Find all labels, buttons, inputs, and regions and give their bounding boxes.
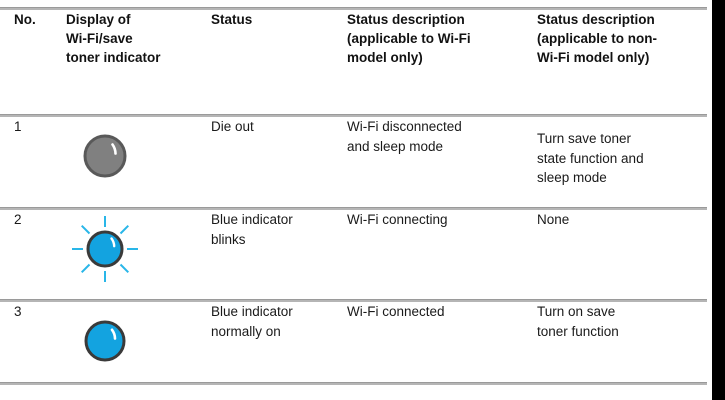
row1-number: 1	[14, 117, 22, 137]
row3-status: Blue indicator normally on	[211, 302, 293, 341]
table-rule-bottom	[0, 382, 707, 385]
row1-cell-desc-nonwifi: Turn save toner state function and sleep…	[537, 117, 707, 188]
row2-cell-desc-wifi: Wi-Fi connecting	[347, 210, 532, 230]
row1-desc-nonwifi-line3: sleep mode	[537, 170, 607, 185]
row2-number: 2	[14, 210, 22, 230]
row3-number: 3	[14, 302, 22, 322]
header-cell-status: Status	[211, 10, 341, 29]
row1-desc-nonwifi-line2: state function and	[537, 151, 644, 166]
row1-cell-no: 1	[14, 117, 66, 137]
header-label-no: No.	[14, 10, 36, 29]
row3-desc-nonwifi: Turn on save toner function	[537, 302, 619, 341]
row2-cell-status: Blue indicator blinks	[211, 210, 341, 249]
row2-status: Blue indicator blinks	[211, 210, 293, 249]
row3-desc-nonwifi-line1: Turn on save	[537, 304, 615, 319]
blue-led-blinking-icon	[66, 210, 144, 288]
header-desc-nonwifi-line3: Wi-Fi model only)	[537, 50, 649, 65]
grey-led-off-icon	[66, 117, 144, 195]
header-cell-display: Display of Wi-Fi/save toner indicator	[66, 10, 206, 67]
header-cell-desc-nonwifi: Status description (applicable to non- W…	[537, 10, 707, 67]
header-label-display: Display of Wi-Fi/save toner indicator	[66, 10, 161, 67]
row2-status-line1: Blue indicator	[211, 212, 293, 227]
row3-desc-nonwifi-line2: toner function	[537, 324, 619, 339]
row2-status-line2: blinks	[211, 232, 246, 247]
row3-cell-desc-nonwifi: Turn on save toner function	[537, 302, 707, 341]
header-desc-wifi-line2: (applicable to Wi-Fi	[347, 31, 471, 46]
row1-desc-nonwifi: Turn save toner state function and sleep…	[537, 129, 644, 188]
row1-desc-wifi-line2: and sleep mode	[347, 139, 443, 154]
header-label-status: Status	[211, 10, 252, 29]
header-display-line2: Wi-Fi/save	[66, 31, 133, 46]
table-row: 2	[0, 210, 707, 299]
header-display-line3: toner indicator	[66, 50, 161, 65]
row3-cell-desc-wifi: Wi-Fi connected	[347, 302, 532, 322]
header-desc-wifi-line3: model only)	[347, 50, 423, 65]
row2-desc-wifi: Wi-Fi connecting	[347, 210, 448, 230]
row1-desc-nonwifi-line1: Turn save toner	[537, 131, 631, 146]
header-desc-wifi-line1: Status description	[347, 12, 465, 27]
row3-status-line1: Blue indicator	[211, 304, 293, 319]
header-cell-desc-wifi: Status description (applicable to Wi-Fi …	[347, 10, 532, 67]
header-cell-no: No.	[14, 10, 66, 29]
row3-cell-indicator	[66, 302, 206, 380]
indicator-status-table-page: No. Display of Wi-Fi/save toner indicato…	[0, 0, 725, 400]
row1-cell-desc-wifi: Wi-Fi disconnected and sleep mode	[347, 117, 532, 156]
row1-cell-status: Die out	[211, 117, 341, 137]
header-display-line1: Display of	[66, 12, 131, 27]
header-desc-nonwifi-line1: Status description	[537, 12, 655, 27]
table-row: 1 Die out	[0, 117, 707, 207]
row2-cell-no: 2	[14, 210, 66, 230]
row3-desc-wifi: Wi-Fi connected	[347, 302, 445, 322]
row1-status: Die out	[211, 117, 254, 137]
row2-desc-nonwifi: None	[537, 210, 569, 230]
header-desc-nonwifi-line2: (applicable to non-	[537, 31, 657, 46]
table-row: 3 Blue indicator norm	[0, 302, 707, 382]
blue-led-on-icon	[66, 302, 144, 380]
row3-cell-no: 3	[14, 302, 66, 322]
right-edge-band	[712, 0, 725, 400]
row3-status-line2: normally on	[211, 324, 281, 339]
row1-desc-wifi: Wi-Fi disconnected and sleep mode	[347, 117, 462, 156]
row3-cell-status: Blue indicator normally on	[211, 302, 341, 341]
row1-desc-wifi-line1: Wi-Fi disconnected	[347, 119, 462, 134]
row2-cell-indicator	[66, 210, 206, 288]
header-label-desc-nonwifi: Status description (applicable to non- W…	[537, 10, 657, 67]
row1-cell-indicator	[66, 117, 206, 195]
table-header-row: No. Display of Wi-Fi/save toner indicato…	[0, 10, 707, 114]
row2-cell-desc-nonwifi: None	[537, 210, 707, 230]
header-label-desc-wifi: Status description (applicable to Wi-Fi …	[347, 10, 471, 67]
